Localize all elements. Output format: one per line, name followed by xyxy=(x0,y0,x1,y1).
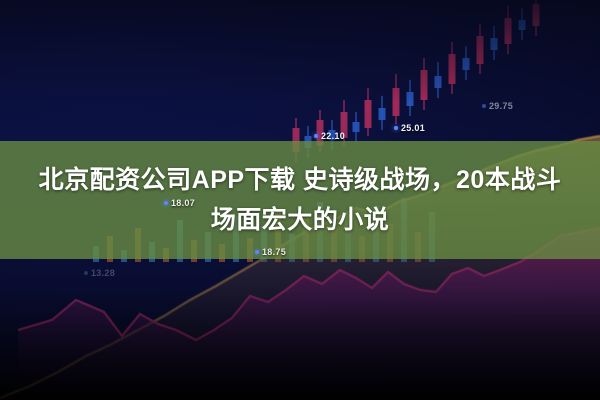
price-tag: 29.75 xyxy=(482,101,513,111)
price-tag: 22.10 xyxy=(314,131,345,141)
price-tag-dot xyxy=(314,134,318,138)
price-tag-label: 25.01 xyxy=(401,123,425,133)
price-tag-dot xyxy=(394,126,398,130)
price-tag-dot xyxy=(482,104,486,108)
price-tag-label: 13.28 xyxy=(91,268,115,278)
price-tag-label: 29.75 xyxy=(489,101,513,111)
banner-title: 北京配资公司APP下载 史诗级战场，20本战斗 场面宏大的小说 xyxy=(0,141,600,259)
price-tag: 13.28 xyxy=(84,268,115,278)
banner-image: 22.1025.0129.7518.0718.7513.28 北京配资公司APP… xyxy=(0,0,600,400)
price-tag-label: 22.10 xyxy=(321,131,345,141)
price-tag: 25.01 xyxy=(394,123,425,133)
title-line-2: 场面宏大的小说 xyxy=(211,203,390,237)
title-line-1: 北京配资公司APP下载 史诗级战场，20本战斗 xyxy=(39,163,562,197)
price-tag-dot xyxy=(84,271,88,275)
